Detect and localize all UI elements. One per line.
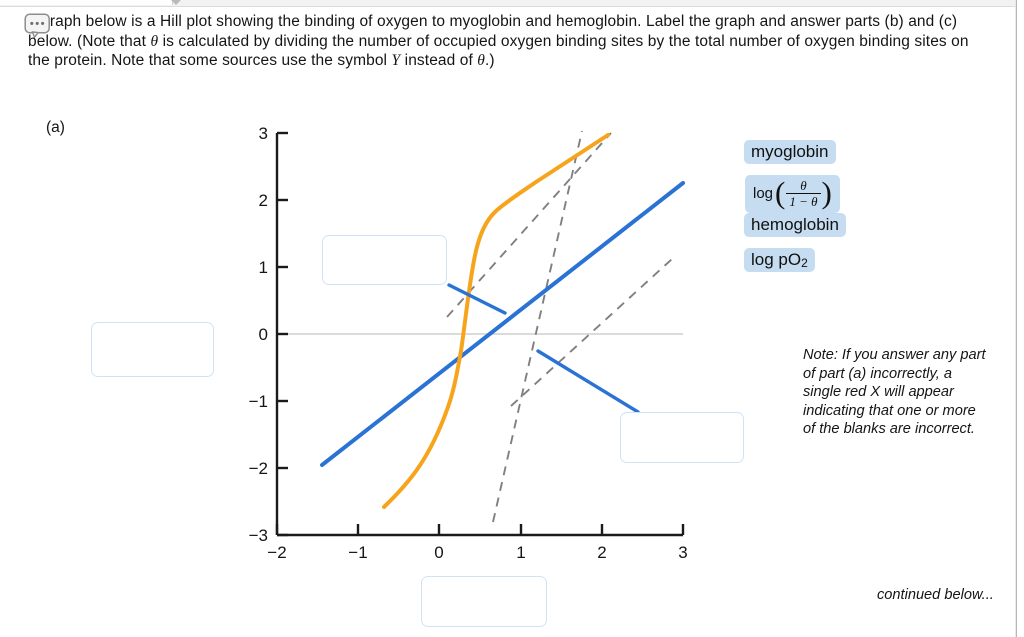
- theta-symbol-2: θ: [477, 52, 485, 69]
- chip-log-po2-text: log pO: [751, 250, 801, 269]
- chip-log-po2-subscript: 2: [801, 256, 808, 270]
- browser-top-strip: [0, 0, 1024, 7]
- fraction-numerator: θ: [796, 179, 810, 193]
- hemoglobin-leader-line: [538, 351, 638, 412]
- y-axis-ticks: [277, 133, 288, 535]
- draggable-label-bank: myoglobin log ( θ 1 − θ ) hemoglobin log…: [744, 140, 994, 283]
- right-paren: ): [822, 181, 832, 206]
- chevron-down-icon: [171, 0, 181, 5]
- comment-bubble-icon[interactable]: [24, 13, 54, 38]
- x-tick-1: 1: [516, 543, 525, 558]
- x-tick-2: 2: [597, 543, 606, 558]
- x-tick-m2: −2: [267, 543, 286, 558]
- y-tick-0: 0: [259, 325, 268, 344]
- x-tick-0: 0: [434, 543, 443, 558]
- myoglobin-curve-dropzone[interactable]: [322, 235, 447, 285]
- question-text: e graph below is a Hill plot showing the…: [28, 12, 993, 71]
- myoglobin-leader-line: [449, 285, 505, 313]
- question-line-1: e graph below is a Hill plot showing the…: [28, 13, 786, 30]
- asymptote-upper-dashed: [447, 133, 611, 317]
- chip-log-po2[interactable]: log pO2: [744, 248, 815, 272]
- chip-log-theta-fraction[interactable]: log ( θ 1 − θ ): [745, 175, 840, 213]
- x-tick-labels: −2 −1 0 1 2 3: [267, 543, 687, 558]
- y-tick-m3: −3: [249, 526, 268, 545]
- y-tick-m2: −2: [249, 459, 268, 478]
- hemoglobin-curve: [384, 135, 608, 507]
- y-tick-labels: 3 2 1 0 −1 −2 −3: [249, 124, 268, 545]
- hemoglobin-curve-dropzone[interactable]: [620, 412, 744, 463]
- x-axis-label-dropzone[interactable]: [421, 576, 547, 627]
- question-line-4a: instead of: [405, 52, 478, 69]
- y-tick-3: 3: [259, 124, 268, 143]
- question-line-2b: is calculated by dividing the number of …: [158, 33, 606, 50]
- symbol-Y: Y: [392, 52, 401, 69]
- theta-symbol-1: θ: [150, 33, 158, 50]
- grading-note: Note: If you answer any part of part (a)…: [803, 346, 989, 439]
- x-tick-m1: −1: [348, 543, 367, 558]
- page-root: e graph below is a Hill plot showing the…: [0, 0, 1024, 637]
- chip-log-prefix: log: [753, 186, 773, 202]
- page-right-edge: [1016, 0, 1024, 637]
- y-axis-label-dropzone[interactable]: [91, 322, 214, 377]
- x-axis-ticks: [277, 524, 683, 535]
- fraction-denominator: 1 − θ: [786, 193, 820, 209]
- hill-plot: 3 2 1 0 −1 −2 −3 −2 −1 0 1 2 3: [240, 118, 710, 558]
- chip-hemoglobin[interactable]: hemoglobin: [744, 213, 846, 237]
- y-tick-m1: −1: [249, 392, 268, 411]
- continued-notice: continued below...: [877, 586, 997, 605]
- part-a-label: (a): [46, 119, 65, 137]
- y-tick-1: 1: [259, 258, 268, 277]
- asymptote-steep-dashed: [493, 131, 582, 522]
- x-tick-3: 3: [678, 543, 687, 558]
- chip-myoglobin[interactable]: myoglobin: [744, 140, 836, 164]
- y-tick-2: 2: [259, 191, 268, 210]
- question-line-4b: .): [485, 52, 495, 69]
- left-paren: (: [775, 181, 785, 206]
- browser-tab[interactable]: [0, 0, 173, 5]
